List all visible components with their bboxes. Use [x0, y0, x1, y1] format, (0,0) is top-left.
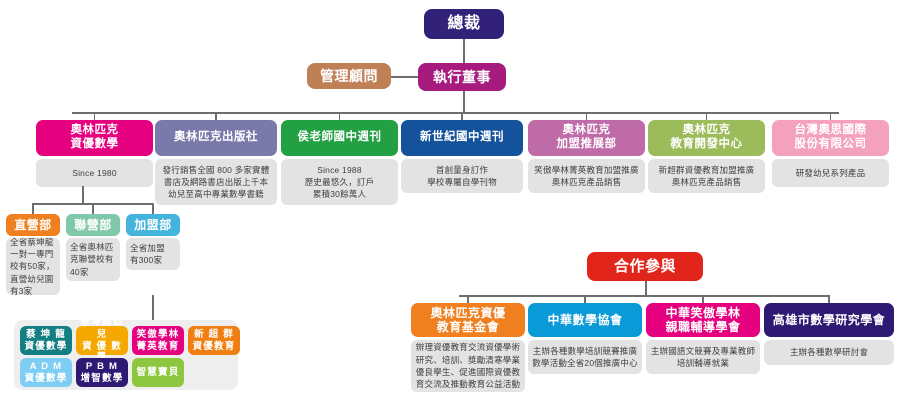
division-desc-3: 首創量身訂作 學校專屬自學刊物 [401, 159, 523, 193]
brand-tag-3[interactable]: 新 超 群 資優教育 [188, 326, 240, 355]
connector-advisor-exec [391, 76, 418, 78]
division-desc-1: 發行銷售全國 800 多家實體 書店及網路書店出版上千本 幼兒至高中專業數學書籍 [155, 159, 277, 205]
connector-division-drop-5 [706, 112, 708, 120]
cooperation-desc-2: 主辦國語文競賽及專業教師 培訓輔導就業 [646, 340, 760, 374]
connector-sub-drop-2 [152, 203, 154, 214]
subdivision-node-0[interactable]: 直營部 [6, 214, 60, 236]
connector-coop-bus [645, 281, 647, 295]
division-node-2[interactable]: 侯老師國中週刊 [281, 120, 398, 156]
subdivision-node-2[interactable]: 加盟部 [126, 214, 180, 236]
subdivision-desc-0: 全省蔡坤龍 一對一專門 校有50家， 直營幼兒園 有3家 [6, 238, 60, 295]
connector-franchise-brands [152, 295, 154, 320]
connector-coop-hbus [459, 295, 830, 297]
node-cooperation[interactable]: 合作參與 [587, 252, 703, 281]
brand-tag-6[interactable]: 智慧寶貝 [132, 358, 184, 387]
brand-tag-4[interactable]: A D M 資優數學 [20, 358, 72, 387]
division-desc-5: 新超群資優教育加盟推廣 奧林匹克產品銷售 [648, 159, 765, 193]
connector-exec-bus [463, 91, 465, 113]
connector-division-drop-6 [830, 112, 832, 120]
connector-division-drop-3 [461, 112, 463, 120]
cooperation-node-3[interactable]: 高雄市數學研究學會 [764, 303, 894, 337]
connector-sub-drop-1 [92, 203, 94, 214]
connector-president-exec [463, 39, 465, 63]
division-desc-2: Since 1988 歷史最悠久，訂戶 累積30餘萬人 [281, 159, 398, 205]
connector-coop-drop-0 [467, 295, 469, 303]
connector-coop-drop-3 [828, 295, 830, 303]
division-node-6[interactable]: 台灣奧思國際 股份有限公司 [772, 120, 889, 156]
brand-tag-1[interactable]: 蔡坤龍幼兒 資 優 數 學 [76, 326, 128, 355]
node-executive-director[interactable]: 執行董事 [418, 63, 506, 91]
cooperation-desc-3: 主辦各種數學研討會 [764, 340, 894, 365]
brand-tag-5[interactable]: P B M 增智數學 [76, 358, 128, 387]
connector-division-drop-0 [94, 112, 96, 120]
connector-coop-drop-2 [702, 295, 704, 303]
brand-tag-2[interactable]: 笑傲學林 菁英教育 [132, 326, 184, 355]
cooperation-desc-0: 辦理資優教育交流資優學術 研究、培訓、獎勵清寒學業 優良學生、促進國際資優教 育… [411, 340, 525, 392]
connector-division-drop-1 [215, 112, 217, 120]
cooperation-node-2[interactable]: 中華笑傲學林 親職輔導學會 [646, 303, 760, 337]
connector-coop-drop-1 [584, 295, 586, 303]
division-desc-0: Since 1980 [36, 159, 153, 187]
division-desc-6: 研發幼兒系列產品 [772, 159, 889, 187]
division-node-0[interactable]: 奧林匹克 資優數學 [36, 120, 153, 156]
connector-division-drop-4 [586, 112, 588, 120]
division-node-4[interactable]: 奧林匹克 加盟推展部 [528, 120, 645, 156]
subdivision-desc-1: 全省奧林匹 克聯營校有 40家 [66, 238, 120, 281]
connector-div0-sub [82, 186, 84, 203]
division-node-5[interactable]: 奧林匹克 教育開發中心 [648, 120, 765, 156]
connector-sub-drop-0 [32, 203, 34, 214]
brand-tag-0[interactable]: 蔡 坤 龍 資優數學 [20, 326, 72, 355]
subdivision-node-1[interactable]: 聯營部 [66, 214, 120, 236]
division-node-1[interactable]: 奧林匹克出版社 [155, 120, 277, 156]
cooperation-desc-1: 主辦各種數學培訓競賽推廣 數學活動全省20個推廣中心 [528, 340, 642, 374]
node-management-advisor[interactable]: 管理顧問 [307, 63, 391, 89]
node-president[interactable]: 總裁 [424, 9, 504, 39]
brand-panel: 蔡 坤 龍 資優數學蔡坤龍幼兒 資 優 數 學笑傲學林 菁英教育新 超 群 資優… [14, 320, 238, 390]
org-chart-canvas: 總裁 管理顧問 執行董事 奧林匹克 資優數學Since 1980奧林匹克出版社發… [0, 0, 900, 406]
division-desc-4: 笑傲學林菁英教育加盟推廣 奧林匹克產品銷售 [528, 159, 645, 193]
division-node-3[interactable]: 新世紀國中週刊 [401, 120, 523, 156]
cooperation-node-1[interactable]: 中華數學協會 [528, 303, 642, 337]
cooperation-node-0[interactable]: 奧林匹克資優 教育基金會 [411, 303, 525, 337]
subdivision-desc-2: 全省加盟 有300家 [126, 238, 180, 270]
connector-division-drop-2 [339, 112, 341, 120]
connector-division-bus [72, 112, 839, 114]
